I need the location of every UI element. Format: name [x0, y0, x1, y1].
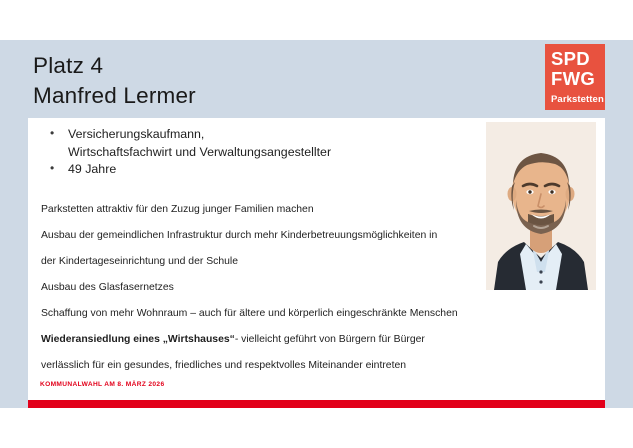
slide-canvas: Platz 4 Manfred Lermer SPD FWG Parkstett…: [0, 40, 633, 408]
portrait-photo: [486, 122, 596, 290]
paragraph-line: Schaffung von mehr Wohnraum – auch für ä…: [41, 308, 458, 319]
bullet-text-primary: 49 Jahre: [68, 162, 116, 176]
paragraph-line: Parkstetten attraktiv für den Zuzug jung…: [41, 204, 314, 215]
footer-red-bar: [28, 400, 605, 408]
paragraph-line-continued: verlässlich für ein gesundes, friedliche…: [41, 359, 511, 373]
party-logo: SPD FWG Parkstetten: [545, 44, 605, 110]
page-title: Platz 4 Manfred Lermer: [33, 51, 513, 111]
logo-line-fwg: FWG: [545, 69, 605, 89]
list-item: 49 Jahre: [40, 161, 470, 179]
list-item: Versicherungskaufmann, Wirtschaftsfachwi…: [40, 126, 470, 161]
paragraph-bold-lead: Wiederansiedlung eines „Wirtshauses“: [41, 334, 235, 345]
paragraph-wirtshaus: Wiederansiedlung eines „Wirtshauses“- vi…: [41, 333, 511, 373]
bullet-text-secondary: Wirtschaftsfachwirt und Verwaltungsanges…: [68, 144, 470, 162]
paragraph-line-continued: der Kindertageseinrichtung und der Schul…: [41, 255, 511, 269]
paragraph-line: Ausbau des Glasfasernetzes: [41, 282, 174, 293]
title-line-rank: Platz 4: [33, 51, 513, 81]
paragraph-infrastruktur: Ausbau der gemeindlichen Infrastruktur d…: [41, 229, 511, 269]
footer-election-date: KOMMUNALWAHL AM 8. MÄRZ 2026: [40, 381, 164, 388]
title-line-name: Manfred Lermer: [33, 81, 513, 111]
bullet-list: Versicherungskaufmann, Wirtschaftsfachwi…: [40, 126, 470, 179]
portrait-illustration: [486, 122, 596, 290]
body-paragraphs: Parkstetten attraktiv für den Zuzug jung…: [41, 203, 511, 385]
logo-line-spd: SPD: [545, 49, 605, 69]
paragraph-wohnraum: Schaffung von mehr Wohnraum – auch für ä…: [41, 307, 511, 321]
paragraph-line: Ausbau der gemeindlichen Infrastruktur d…: [41, 230, 437, 241]
content-card: Versicherungskaufmann, Wirtschaftsfachwi…: [28, 118, 605, 400]
paragraph-familien: Parkstetten attraktiv für den Zuzug jung…: [41, 203, 511, 217]
paragraph-line-rest: - vielleicht geführt von Bürgern für Bür…: [235, 334, 425, 345]
bullet-text-primary: Versicherungskaufmann,: [68, 127, 204, 141]
paragraph-glasfaser: Ausbau des Glasfasernetzes: [41, 281, 511, 295]
logo-subtitle-parkstetten: Parkstetten: [545, 94, 605, 106]
